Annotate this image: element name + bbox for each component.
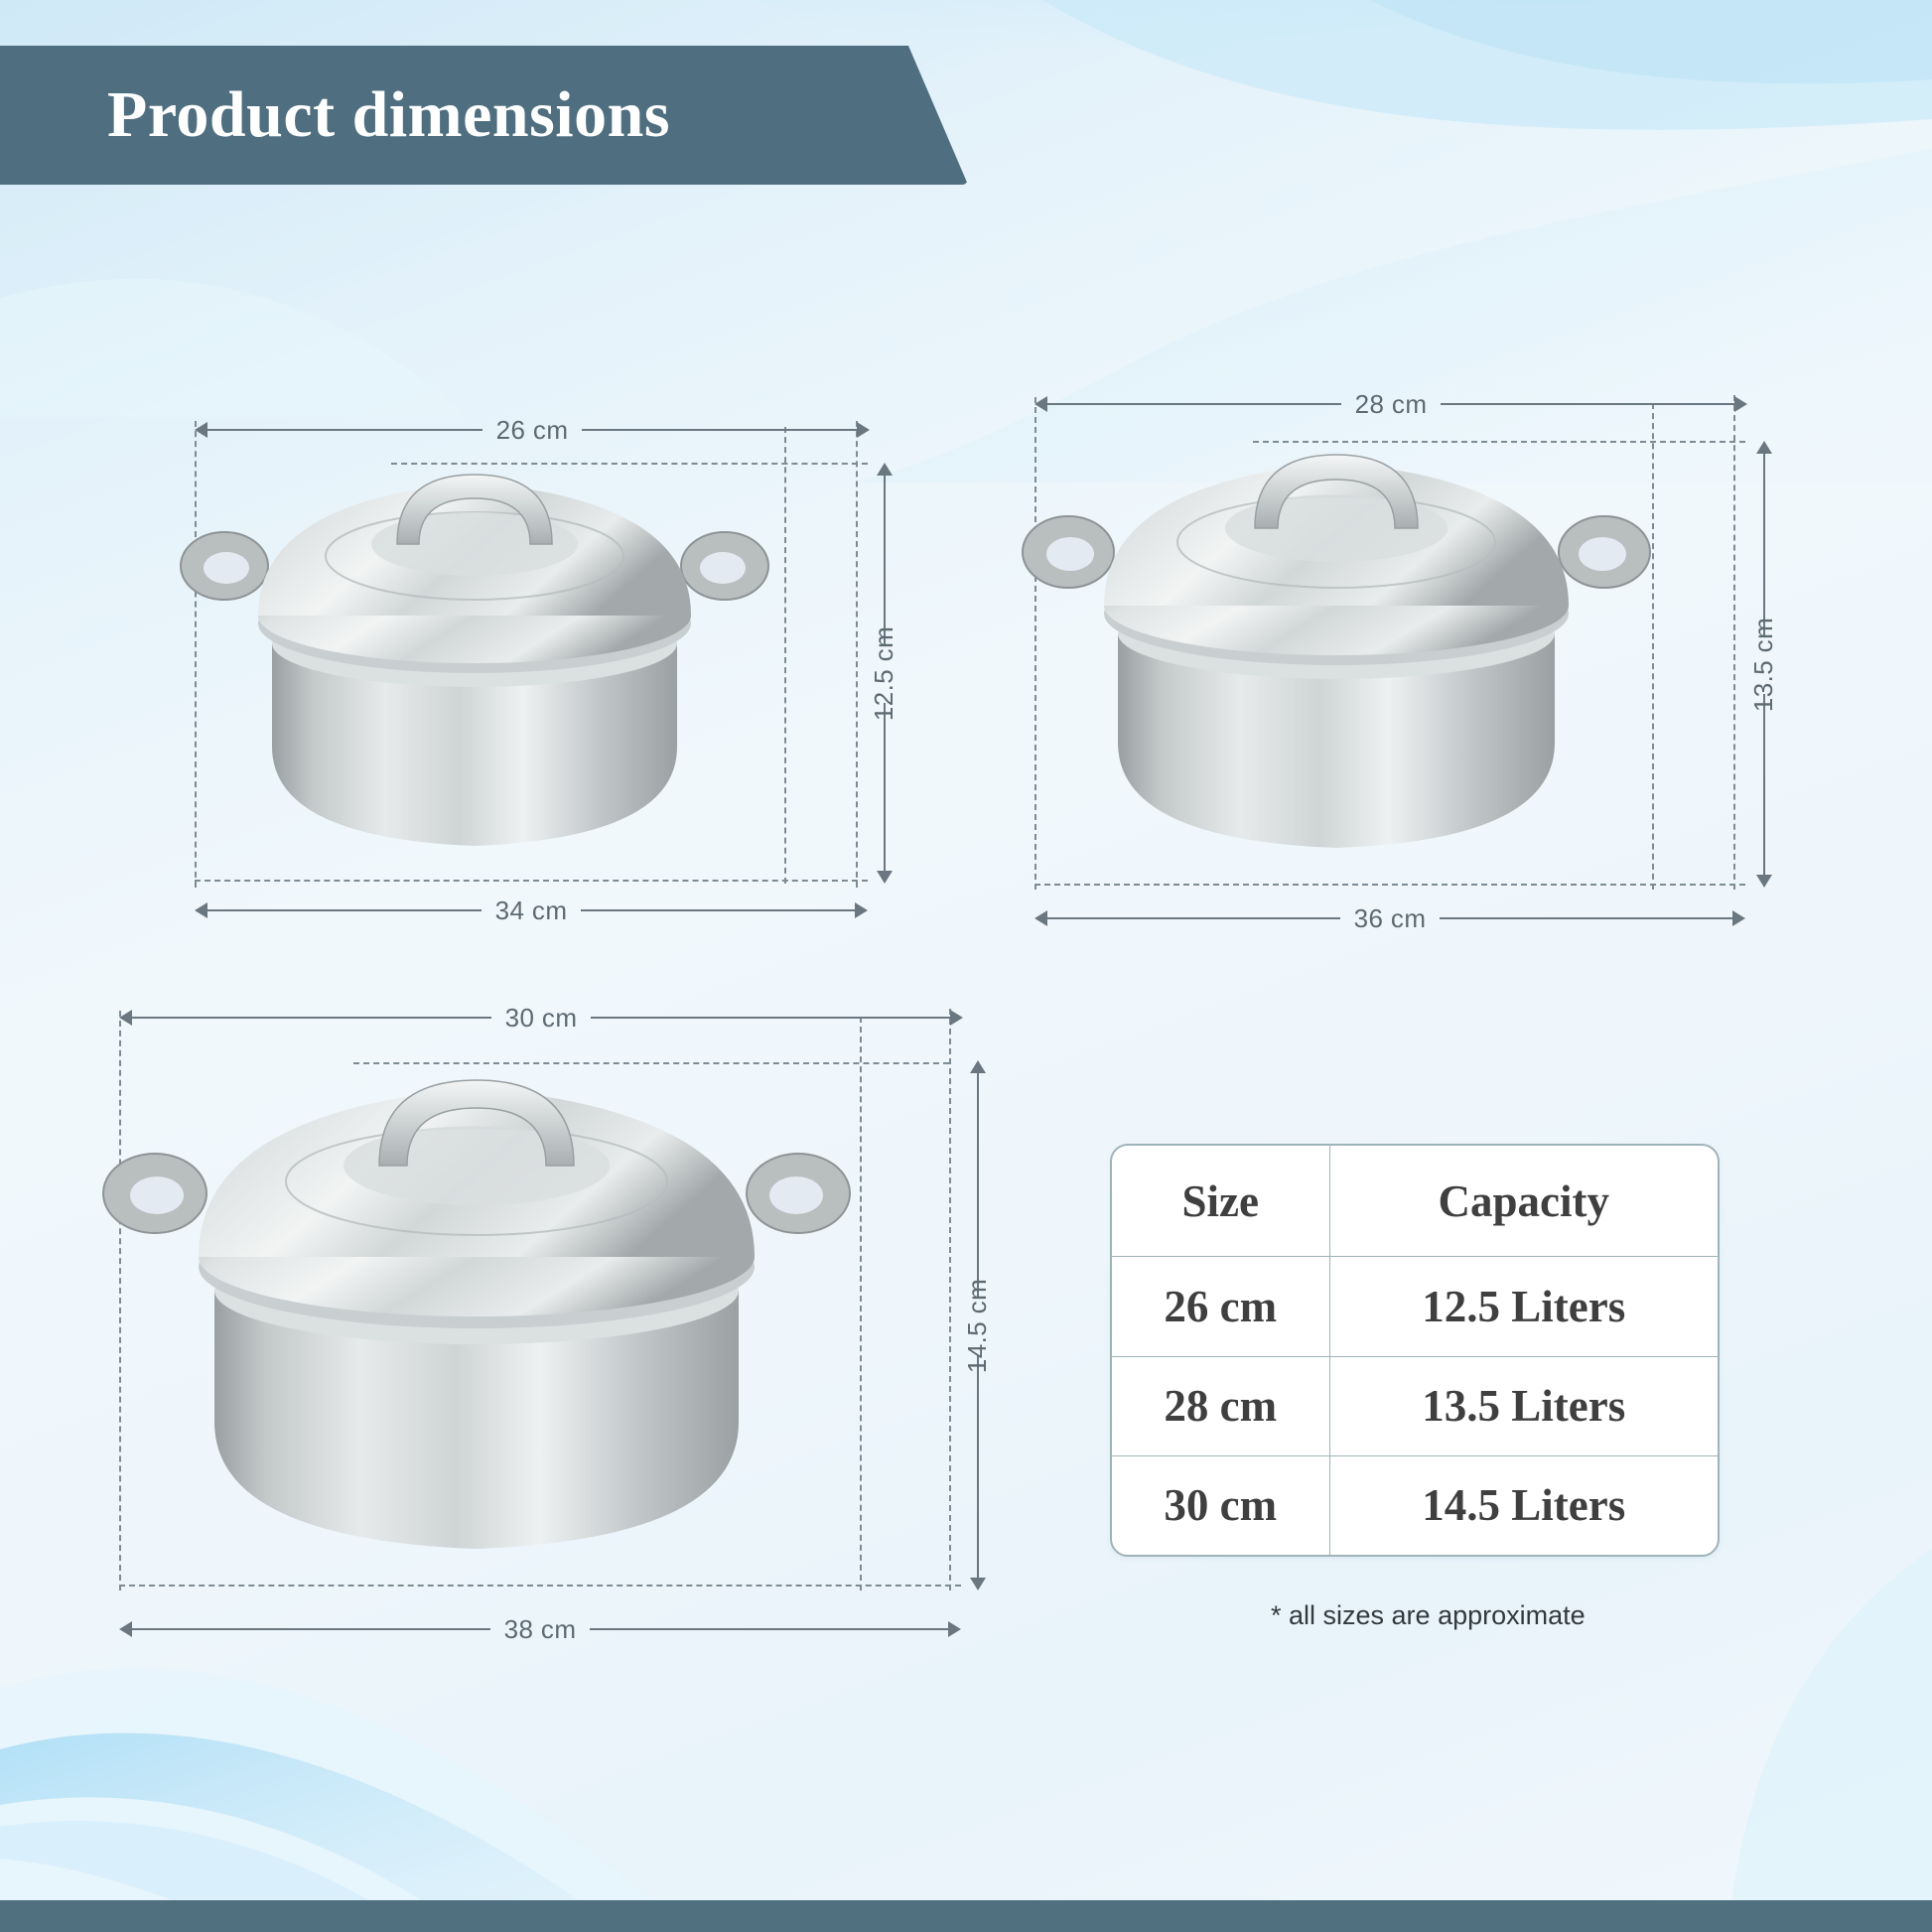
arrowhead-down-icon [877, 871, 893, 884]
pot-svg-30 [99, 1048, 854, 1600]
guide-line-lid-right-26 [784, 427, 786, 884]
arrow-line-segment [977, 1073, 979, 1297]
arrowhead-left-icon [195, 422, 207, 438]
table-cell-size: 26 cm [1112, 1257, 1329, 1356]
arrow-line-segment [1047, 403, 1341, 405]
dimension-label-base-width-26: 34 cm [495, 896, 568, 926]
arrowhead-right-icon [855, 902, 868, 918]
arrow-line-segment [884, 703, 886, 872]
arrowhead-right-icon [950, 1010, 963, 1026]
arrowhead-left-icon [1035, 910, 1047, 926]
spec-table: Size Capacity 26 cm 12.5 Liters 28 cm 13… [1110, 1144, 1720, 1557]
table-header-size: Size [1112, 1146, 1329, 1257]
footnote-approximate-sizes: * all sizes are approximate [1271, 1600, 1586, 1631]
arrowhead-left-icon [119, 1010, 132, 1026]
arrowhead-left-icon [119, 1621, 132, 1637]
dimension-arrow-height-28: 13.5 cm [1749, 441, 1779, 888]
arrow-line-segment [1440, 917, 1732, 919]
table-cell-capacity: 13.5 Liters [1329, 1356, 1718, 1455]
arrow-line-segment [1763, 694, 1765, 876]
arrowhead-left-icon [1035, 396, 1047, 412]
pot-svg-26 [177, 449, 772, 886]
arrow-line-segment [1441, 403, 1734, 405]
dimension-label-lid-width-30: 30 cm [505, 1003, 578, 1034]
arrowhead-right-icon [948, 1621, 961, 1637]
table-row: 30 cm 14.5 Liters [1112, 1455, 1718, 1555]
dimension-arrow-height-30: 14.5 cm [963, 1060, 993, 1590]
arrowhead-right-icon [857, 422, 870, 438]
dimension-label-height-26: 12.5 cm [870, 625, 900, 720]
arrowhead-up-icon [970, 1060, 986, 1073]
arrow-line-segment [582, 429, 857, 431]
arrow-line-segment [884, 476, 886, 644]
dimension-arrow-height-26: 12.5 cm [870, 463, 899, 884]
spec-table-grid: Size Capacity 26 cm 12.5 Liters 28 cm 13… [1112, 1146, 1718, 1555]
dimension-label-lid-width-28: 28 cm [1355, 389, 1428, 420]
table-cell-capacity: 12.5 Liters [1329, 1257, 1718, 1356]
guide-line-right-26 [856, 421, 858, 888]
table-header-row: Size Capacity [1112, 1146, 1718, 1257]
table-row: 28 cm 13.5 Liters [1112, 1356, 1718, 1455]
arrow-line-segment [591, 1017, 950, 1019]
dimension-arrow-base-width-30: 38 cm [119, 1614, 961, 1644]
arrowhead-right-icon [1732, 910, 1745, 926]
pot-image-26cm [177, 449, 772, 886]
dimension-arrow-base-width-26: 34 cm [195, 896, 868, 925]
dimension-label-base-width-30: 38 cm [504, 1614, 577, 1645]
arrow-line-segment [207, 429, 483, 431]
pot-svg-28 [1019, 427, 1654, 894]
dimension-label-base-width-28: 36 cm [1354, 903, 1427, 934]
arrowhead-left-icon [195, 902, 207, 918]
dimension-arrow-lid-width-30: 30 cm [119, 1003, 963, 1033]
table-header-capacity: Capacity [1329, 1146, 1718, 1257]
arrowhead-up-icon [877, 463, 893, 476]
table-row: 26 cm 12.5 Liters [1112, 1257, 1718, 1356]
arrow-line-segment [1763, 454, 1765, 635]
arrowhead-down-icon [970, 1578, 986, 1590]
arrow-line-segment [132, 1017, 491, 1019]
table-cell-capacity: 14.5 Liters [1329, 1455, 1718, 1555]
header-ribbon: Product dimensions [0, 46, 968, 185]
dimension-arrow-base-width-28: 36 cm [1035, 903, 1745, 933]
pot-image-28cm [1019, 427, 1654, 894]
pot-image-30cm [99, 1048, 854, 1600]
dimension-label-height-28: 13.5 cm [1749, 617, 1780, 711]
guide-line-right-30 [949, 1009, 951, 1590]
table-cell-size: 30 cm [1112, 1455, 1329, 1555]
arrow-line-segment [132, 1628, 490, 1630]
arrow-line-segment [1047, 917, 1340, 919]
dimension-label-height-30: 14.5 cm [963, 1278, 994, 1372]
dimension-label-lid-width-26: 26 cm [496, 415, 569, 446]
guide-line-lid-right-30 [860, 1017, 862, 1590]
table-cell-size: 28 cm [1112, 1356, 1329, 1455]
dimension-arrow-lid-width-28: 28 cm [1035, 389, 1747, 419]
page-title: Product dimensions [107, 77, 670, 153]
arrow-line-segment [590, 1628, 948, 1630]
arrowhead-up-icon [1756, 441, 1772, 454]
footer-bar [0, 1900, 1932, 1932]
arrowhead-right-icon [1734, 396, 1747, 412]
arrow-line-segment [581, 909, 855, 911]
guide-line-right-28 [1733, 395, 1735, 890]
dimension-arrow-lid-width-26: 26 cm [195, 415, 870, 445]
arrow-line-segment [977, 1355, 979, 1579]
arrowhead-down-icon [1756, 875, 1772, 888]
arrow-line-segment [207, 909, 482, 911]
